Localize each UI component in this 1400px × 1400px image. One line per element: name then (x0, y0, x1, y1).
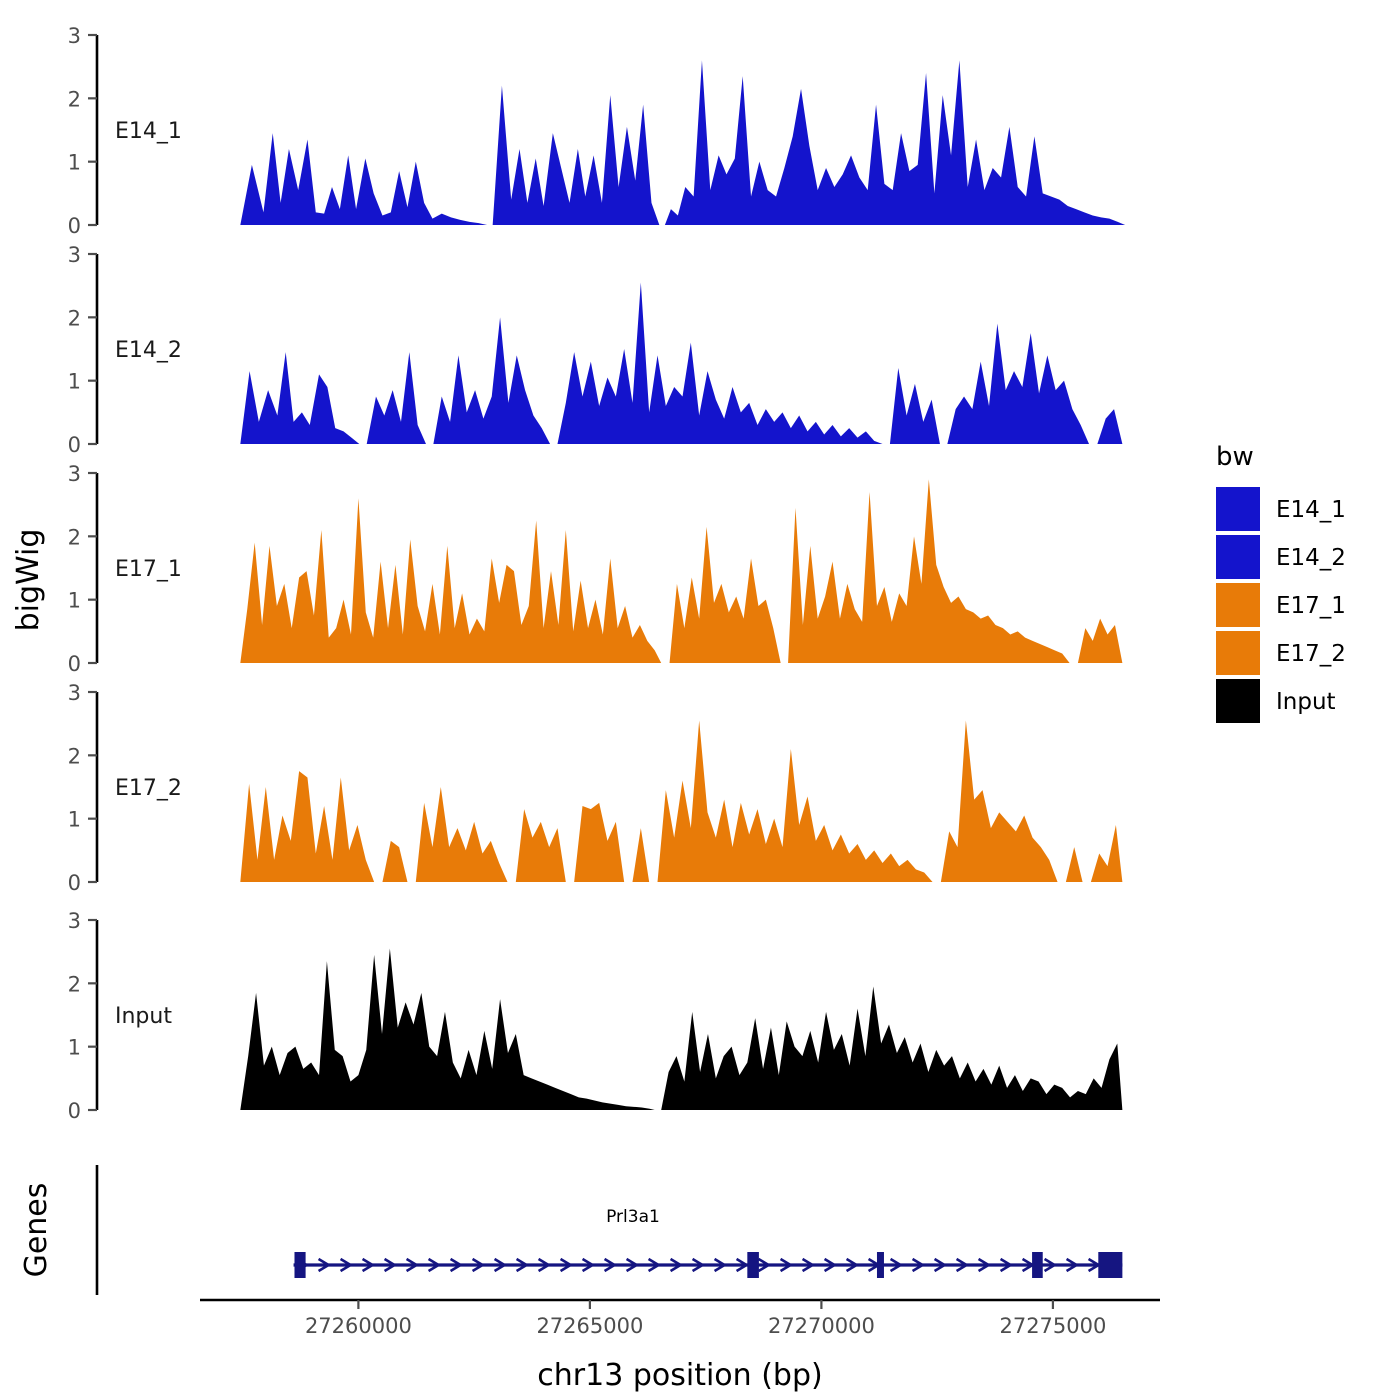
coverage-area-e17_1 (240, 498, 661, 663)
y-tick-label: 2 (68, 972, 81, 996)
coverage-area-e14_2 (557, 283, 882, 445)
y-tick-label: 2 (68, 306, 81, 330)
y-tick-label: 0 (68, 214, 81, 238)
legend-swatch-input[interactable] (1216, 679, 1260, 723)
coverage-area-e17_2 (382, 841, 407, 882)
track-panel-input: 0123Input (68, 909, 1123, 1123)
gene-name-label: Prl3a1 (606, 1207, 660, 1227)
coverage-area-e17_2 (941, 721, 1058, 883)
coverage-area-e14_2 (240, 352, 359, 444)
y-tick-label: 0 (68, 1099, 81, 1123)
y-tick-label: 0 (68, 652, 81, 676)
y-tick-label: 2 (68, 744, 81, 768)
coverage-area-e17_2 (1066, 847, 1083, 882)
y-tick-label: 2 (68, 525, 81, 549)
y-tick-label: 3 (68, 462, 81, 486)
x-tick-label: 27270000 (768, 1314, 875, 1338)
coverage-area-e17_2 (574, 803, 624, 882)
track-label-e14_1: E14_1 (115, 119, 182, 144)
coverage-area-e14_1 (493, 86, 660, 225)
legend-swatch-e14_1[interactable] (1216, 487, 1260, 531)
coverage-area-e17_2 (240, 771, 374, 882)
legend-label-input: Input (1276, 689, 1336, 715)
legend-title: bw (1216, 442, 1254, 472)
y-tick-label: 3 (68, 909, 81, 933)
legend-swatch-e17_2[interactable] (1216, 631, 1260, 675)
track-panel-e17_1: 0123E17_1 (68, 462, 1123, 676)
gene-exon-box[interactable] (1032, 1252, 1043, 1278)
track-label-e17_1: E17_1 (115, 557, 182, 582)
coverage-area-e17_2 (1091, 825, 1122, 882)
y-tick-label: 1 (68, 808, 81, 832)
coverage-area-e14_1 (240, 133, 487, 225)
coverage-area-e17_2 (516, 809, 566, 882)
genes-track: GenesPrl3a1 (19, 1165, 1122, 1295)
coverage-area-e14_2 (947, 324, 1089, 444)
legend-swatch-e14_2[interactable] (1216, 535, 1260, 579)
y-tick-label: 1 (68, 151, 81, 175)
x-tick-label: 27265000 (536, 1314, 643, 1338)
genes-strip-label: Genes (19, 1183, 54, 1278)
track-panel-e14_1: 0123E14_1 (68, 24, 1126, 238)
track-label-e17_2: E17_2 (115, 776, 182, 801)
y-tick-label: 2 (68, 87, 81, 111)
gene-exon-box[interactable] (877, 1252, 884, 1278)
coverage-area-e17_1 (670, 527, 781, 663)
y-tick-label: 3 (68, 24, 81, 48)
legend: bwE14_1E14_2E17_1E17_2Input (1216, 442, 1346, 723)
y-tick-label: 0 (68, 871, 81, 895)
x-axis-title: chr13 position (bp) (537, 1358, 822, 1393)
coverage-area-input (661, 987, 1122, 1111)
y-tick-label: 0 (68, 433, 81, 457)
coverage-area-e17_2 (416, 787, 508, 882)
legend-label-e17_2: E17_2 (1276, 641, 1346, 667)
coverage-area-e17_2 (632, 828, 649, 882)
gene-exon-box[interactable] (1098, 1252, 1122, 1278)
y-tick-label: 1 (68, 589, 81, 613)
track-panel-e17_2: 0123E17_2 (68, 681, 1123, 895)
y-tick-label: 1 (68, 370, 81, 394)
gene-exon-box[interactable] (747, 1252, 759, 1278)
bigwig-coverage-figure: 0123E14_10123E14_20123E17_10123E17_20123… (0, 0, 1400, 1400)
legend-label-e14_2: E14_2 (1276, 545, 1346, 571)
coverage-area-e14_1 (665, 60, 1125, 225)
coverage-area-input (240, 949, 654, 1111)
track-panel-e14_2: 0123E14_2 (68, 243, 1123, 457)
x-tick-label: 27275000 (999, 1314, 1106, 1338)
y-tick-label: 3 (68, 681, 81, 705)
coverage-area-e14_2 (433, 317, 550, 444)
x-tick-label: 27260000 (305, 1314, 412, 1338)
y-axis-title: bigWig (11, 529, 46, 632)
y-tick-label: 1 (68, 1036, 81, 1060)
coverage-area-e17_1 (788, 479, 1070, 663)
coverage-area-e17_1 (1078, 619, 1122, 663)
legend-swatch-e17_1[interactable] (1216, 583, 1260, 627)
gene-exon-box[interactable] (294, 1252, 305, 1278)
coverage-area-e14_2 (890, 368, 940, 444)
y-tick-label: 3 (68, 243, 81, 267)
track-label-e14_2: E14_2 (115, 338, 182, 363)
track-label-input: Input (115, 1004, 172, 1029)
coverage-area-e17_2 (658, 721, 933, 883)
figure-root: 0123E14_10123E14_20123E17_10123E17_20123… (0, 0, 1400, 1400)
coverage-area-e14_2 (367, 352, 426, 444)
legend-label-e14_1: E14_1 (1276, 497, 1346, 523)
legend-label-e17_1: E17_1 (1276, 593, 1346, 619)
coverage-area-e14_2 (1097, 409, 1122, 444)
